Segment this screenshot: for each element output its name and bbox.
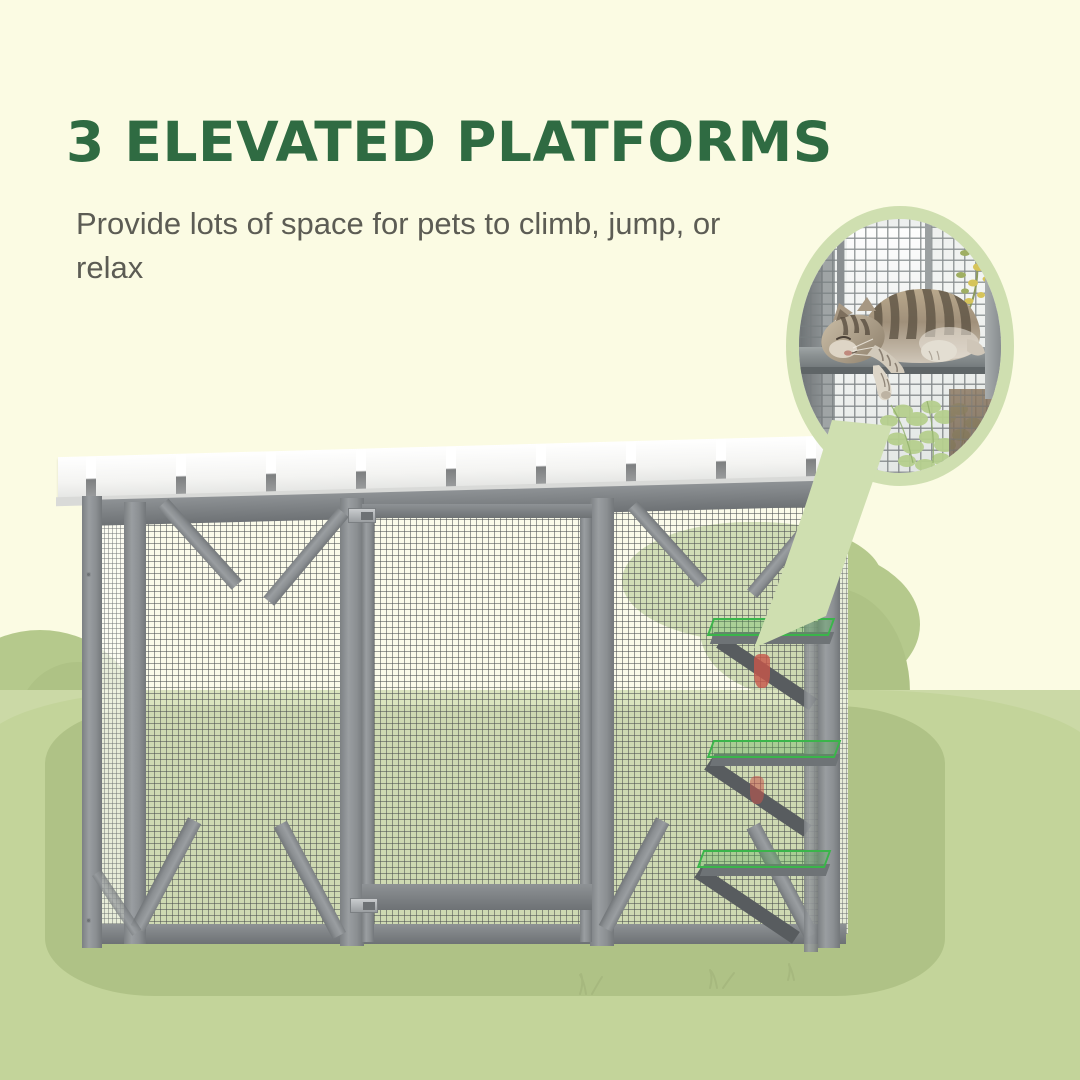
callout-pointer-cone	[740, 420, 910, 670]
platform-bottom[interactable]	[697, 850, 832, 868]
door-stile-right	[580, 504, 592, 942]
platform-middle[interactable]	[707, 740, 842, 758]
post-mid-left	[340, 498, 364, 946]
page-subtitle: Provide lots of space for pets to climb,…	[76, 202, 776, 290]
corner-post-left-front	[124, 502, 146, 944]
door-stile-left	[362, 504, 374, 942]
marketing-banner: 3 ELEVATED PLATFORMS Provide lots of spa…	[0, 0, 1080, 1080]
wire-mesh-door[interactable]	[362, 504, 592, 934]
outdoor-wooden-cat-enclosure[interactable]	[62, 446, 852, 966]
door-top-rail	[362, 504, 592, 518]
screw	[86, 918, 91, 923]
screw	[86, 572, 91, 577]
platform-support-post	[804, 622, 818, 952]
bottom-rail	[86, 924, 846, 944]
door-bottom-rail	[362, 884, 592, 910]
door-hinge-top[interactable]	[348, 508, 376, 523]
grass-tufts	[560, 960, 820, 1010]
page-title: 3 ELEVATED PLATFORMS	[66, 110, 833, 174]
post-mid-right	[590, 498, 614, 946]
door-latch-bottom[interactable]	[350, 898, 378, 913]
hanging-toy	[750, 776, 764, 804]
